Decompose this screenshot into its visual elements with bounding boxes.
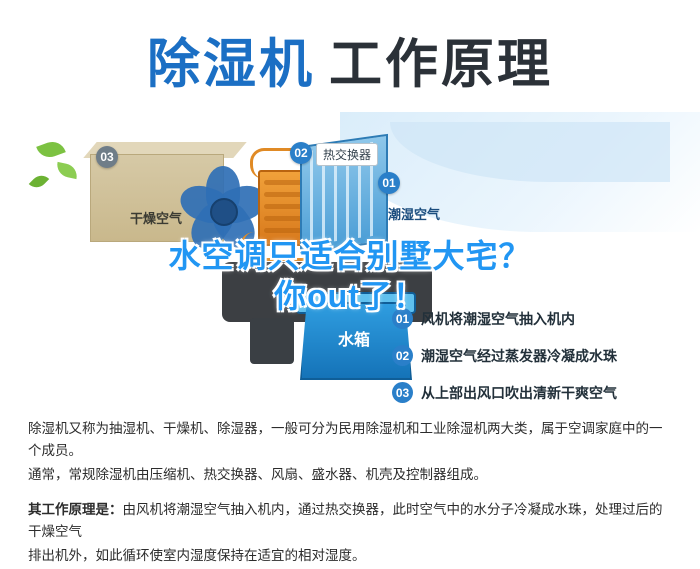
badge-01: 01 xyxy=(378,172,400,194)
poster-title: 除湿机工作原理 xyxy=(0,22,700,98)
article-body: 除湿机又称为抽湿机、干燥机、除湿器，一般可分为民用除湿机和工业除湿机两大类，属于… xyxy=(28,418,672,569)
article-paragraph-2: 通常，常规除湿机由压缩机、热交换器、风扇、盛水器、机壳及控制器组成。 xyxy=(28,464,672,486)
article-paragraph-4: 排出机外，如此循环使室内湿度保持在适宜的相对湿度。 xyxy=(28,545,672,567)
poster-image: 除湿机工作原理 干燥空气 03 xyxy=(0,0,700,404)
leaf-icon xyxy=(55,162,79,179)
step-number: 03 xyxy=(392,382,413,403)
step-item: 02 潮湿空气经过蒸发器冷凝成水珠 xyxy=(392,345,692,366)
badge-03-duct: 03 xyxy=(96,146,118,168)
leaf-icon xyxy=(36,138,66,161)
machine-base-lower xyxy=(250,318,294,364)
step-list: 01 风机将潮湿空气抽入机内 02 潮湿空气经过蒸发器冷凝成水珠 03 从上部出… xyxy=(392,308,692,404)
humid-air-label: 潮湿空气 xyxy=(388,204,440,223)
fan-hub xyxy=(210,198,238,226)
article-paragraph-1: 除湿机又称为抽湿机、干燥机、除湿器，一般可分为民用除湿机和工业除湿机两大类，属于… xyxy=(28,418,672,462)
dehumidifier-diagram: 干燥空气 03 xyxy=(0,112,700,402)
title-dark-part: 工作原理 xyxy=(329,35,553,94)
step-item: 03 从上部出风口吹出清新干爽空气 xyxy=(392,382,692,403)
step-item: 01 风机将潮湿空气抽入机内 xyxy=(392,308,692,329)
step-number: 02 xyxy=(392,345,413,366)
leaf-icon xyxy=(29,171,50,192)
step-text: 风机将潮湿空气抽入机内 xyxy=(421,309,575,329)
step-number: 01 xyxy=(392,308,413,329)
article-paragraph-3-text: 由风机将潮湿空气抽入机内，通过热交换器，此时空气中的水分子冷凝成水珠，处理过后的… xyxy=(28,502,663,539)
article-paragraph-3: 其工作原理是：由风机将潮湿空气抽入机内，通过热交换器，此时空气中的水分子冷凝成水… xyxy=(28,499,672,543)
badge-02: 02 xyxy=(290,142,312,164)
step-text: 潮湿空气经过蒸发器冷凝成水珠 xyxy=(421,346,617,366)
article-paragraph-3-lead: 其工作原理是： xyxy=(28,502,123,517)
step-text: 从上部出风口吹出清新干爽空气 xyxy=(421,383,617,403)
title-blue-part: 除湿机 xyxy=(147,35,315,94)
heat-exchanger-label: 热交换器 xyxy=(316,143,378,166)
